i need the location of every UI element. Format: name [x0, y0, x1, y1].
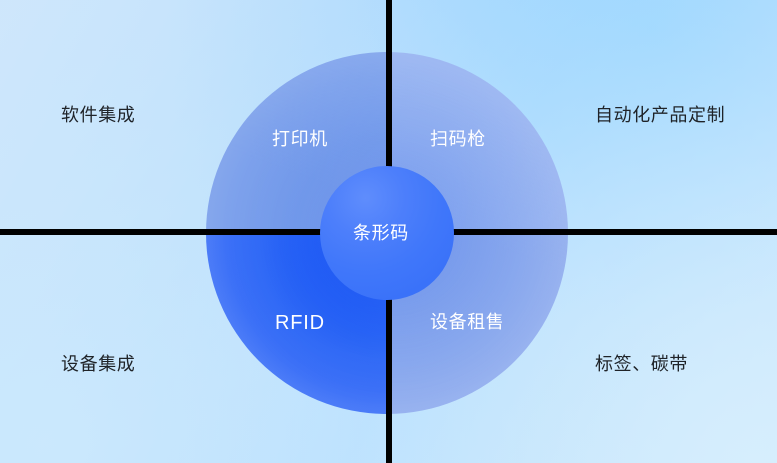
ring-label-printer: 打印机: [272, 130, 328, 148]
quadrant-label-equipment-integration: 设备集成: [61, 355, 135, 373]
quadrant-label-labels-ribbons: 标签、碳带: [595, 355, 688, 373]
quadrant-label-software-integration: 软件集成: [61, 106, 135, 124]
ring-label-rfid: RFID: [275, 313, 325, 333]
ring-label-rental: 设备租售: [430, 313, 504, 331]
quadrant-label-automation-customizing: 自动化产品定制: [595, 106, 725, 124]
ring-label-scanner: 扫码枪: [430, 130, 486, 148]
core-label: 条形码: [353, 224, 409, 242]
diagram-canvas: 条形码 打印机 扫码枪 RFID 设备租售 软件集成 自动化产品定制 设备集成 …: [0, 0, 777, 463]
